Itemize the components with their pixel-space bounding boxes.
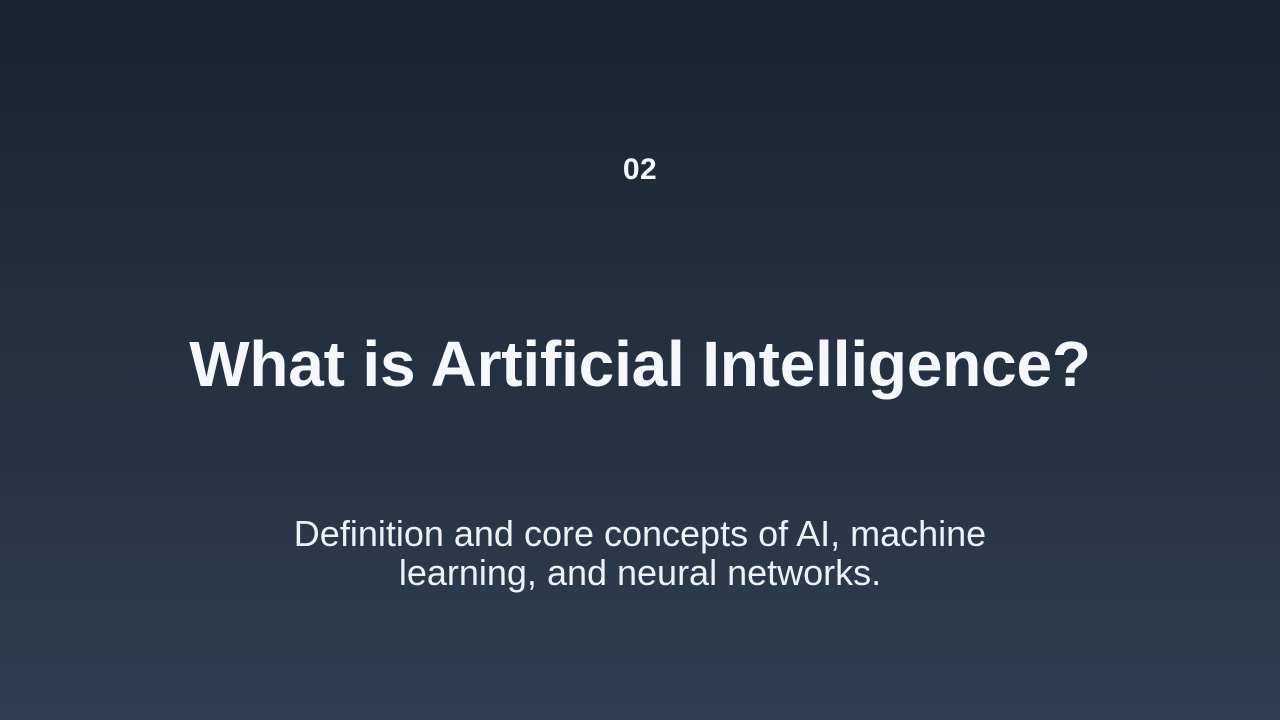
slide-title: What is Artificial Intelligence? xyxy=(0,322,1280,406)
slide-subtitle: Definition and core concepts of AI, mach… xyxy=(224,514,1056,592)
presentation-slide: 02 What is Artificial Intelligence? Defi… xyxy=(0,0,1280,720)
section-number: 02 xyxy=(0,148,1280,192)
